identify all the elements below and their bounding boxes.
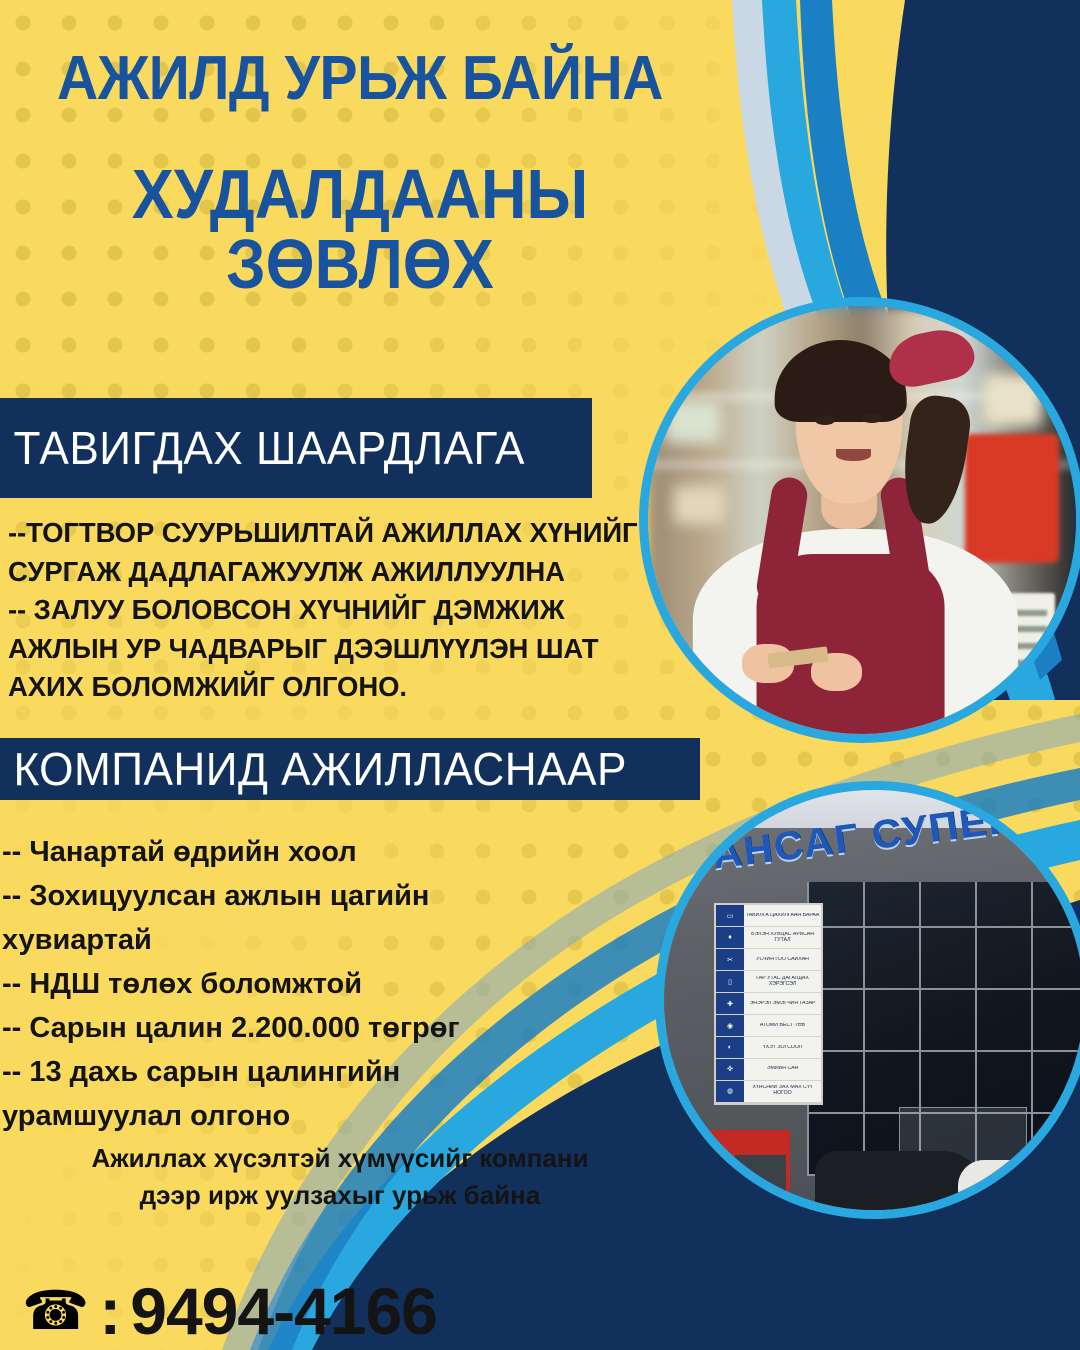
requirements-line: СУРГАЖ ДАДЛАГАЖУУЛЖ АЖИЛЛУУЛНА (8, 553, 648, 592)
directory-row: ✚ ЭНЭРЭЛ ЭМЭГЧИН ГАЗАР (716, 993, 821, 1015)
benefits-body: -- Чанартай өдрийн хоол -- Зохицуулсан а… (2, 830, 662, 1139)
phone-number[interactable]: 9494-4166 (130, 1278, 437, 1344)
invitation-text: Ажиллах хүсэлтэй хүмүүсийг компани дээр … (20, 1140, 660, 1214)
job-ad-poster: АЖИЛД УРЬЖ БАЙНА ХУДАЛДААНЫ ЗӨВЛӨХ ТАВИГ… (0, 0, 1080, 1350)
telephone-icon: ☎ (22, 1284, 89, 1338)
phone-separator: : (99, 1278, 120, 1344)
directory-row: ◉ АТОМИ ВЕСТ ТӨВ (716, 1015, 821, 1037)
benefit-line: -- Сарын цалин 2.200.000 төгрөг (2, 1006, 662, 1050)
scissors-icon: ✂ (716, 949, 743, 970)
atomy-logo-icon: ◉ (716, 1015, 743, 1036)
product-blob (982, 374, 1042, 425)
requirements-section-title: ТАВИГДАХ ШААРДЛАГА (0, 421, 525, 475)
headline-line-2: ХУДАЛДААНЫ (36, 160, 684, 229)
poster-headline: АЖИЛД УРЬЖ БАЙНА ХУДАЛДААНЫ ЗӨВЛӨХ (0, 48, 720, 300)
cashier-scene (648, 306, 1076, 734)
invitation-line-1: Ажиллах хүсэлтэй хүмүүсийг компани (20, 1140, 660, 1177)
grocery-icon: ◍ (716, 1081, 743, 1102)
tenant-directory-board: ▭ ТАВИЛГА ЦАХИЛГААН БАРАА ♦ БЭЛЭН ХУВЦАС… (714, 903, 823, 1104)
directory-row: ◍ ХҮНСНИЙ ЗАХ МАХ СҮҮ НОГОО (716, 1081, 821, 1103)
directory-row: ♦ БЭЛЭН ХУВЦАС АРЬСАН ГУТАЛ (716, 927, 821, 949)
entrance-kiosk (735, 1155, 785, 1210)
directory-row: ✜ ЭМИЙН САН (716, 1059, 821, 1081)
headline-line-3: ЗӨВЛӨХ (36, 229, 684, 300)
requirements-section-bar: ТАВИГДАХ ШААРДЛАГА (0, 398, 592, 498)
product-blob (674, 486, 725, 525)
benefit-line: -- НДШ төлөх боломжтой (2, 962, 662, 1006)
parking-icon: ◐ (716, 1037, 743, 1058)
benefit-line: -- Зохицуулсан ажлын цагийн (2, 874, 662, 918)
benefit-line: хувиартай (2, 918, 662, 962)
supermarket-scene: ТАНСАГ СУПЕРМА ▭ ТАВИЛГА ЦАХИЛГААН БАРАА… (664, 790, 1080, 1210)
burgundy-apron (757, 554, 945, 734)
requirements-body: --ТОГТВОР СУУРЬШИЛТАЙ АЖИЛЛАХ ХҮНИЙГ СУР… (8, 514, 648, 707)
requirements-line: АХИХ БОЛОМЖИЙГ ОЛГОНО. (8, 668, 648, 707)
mobile-phone-icon: ▯ (716, 971, 743, 992)
benefits-section-title: КОМПАНИД АЖИЛЛАСНААР (0, 742, 627, 796)
directory-row: ◐ ҮХЭТ ЗОГСООЛ (716, 1037, 821, 1059)
headline-line-1: АЖИЛД УРЬЖ БАЙНА (29, 48, 691, 110)
directory-row: ▭ ТАВИЛГА ЦАХИЛГААН БАРАА (716, 905, 821, 927)
requirements-line: -- ЗАЛУУ БОЛОВСОН ХҮЧНИЙГ ДЭМЖИЖ (8, 591, 648, 630)
benefit-line: урамшуулал олгоно (2, 1094, 662, 1138)
contact-row[interactable]: ☎ : 9494-4166 (22, 1278, 437, 1344)
invitation-line-2: дээр ирж уулзахыг урьж байна (20, 1177, 660, 1214)
directory-row: ✂ УСЧИН ГОО САЙХАН (716, 949, 821, 971)
clothing-icon: ♦ (716, 927, 743, 948)
directory-row: ▯ ГАР УТАС ДАГАЛДАХ ХЭРЭГСЭЛ (716, 971, 821, 993)
clinic-icon: ✚ (716, 993, 743, 1014)
benefit-line: -- Чанартай өдрийн хоол (2, 830, 662, 874)
benefit-line: -- 13 дахь сарын цалингийн (2, 1050, 662, 1094)
eye-right (862, 414, 882, 423)
pharmacy-icon: ✜ (716, 1059, 743, 1080)
product-blob (665, 400, 721, 443)
parked-car-white (958, 1160, 1080, 1206)
supermarket-photo: ТАНСАГ СУПЕРМА ▭ ТАВИЛГА ЦАХИЛГААН БАРАА… (664, 790, 1080, 1210)
smiling-mouth (836, 449, 870, 460)
furniture-icon: ▭ (716, 905, 743, 926)
requirements-line: АЖЛЫН УР ЧАДВАРЫГ ДЭЭШЛҮҮЛЭН ШАТ (8, 630, 648, 669)
eye-left (815, 415, 835, 424)
cash-register (965, 434, 1059, 562)
requirements-line: --ТОГТВОР СУУРЬШИЛТАЙ АЖИЛЛАХ ХҮНИЙГ (8, 514, 648, 553)
benefits-section-bar: КОМПАНИД АЖИЛЛАСНААР (0, 738, 700, 800)
cashier-photo (648, 306, 1076, 734)
